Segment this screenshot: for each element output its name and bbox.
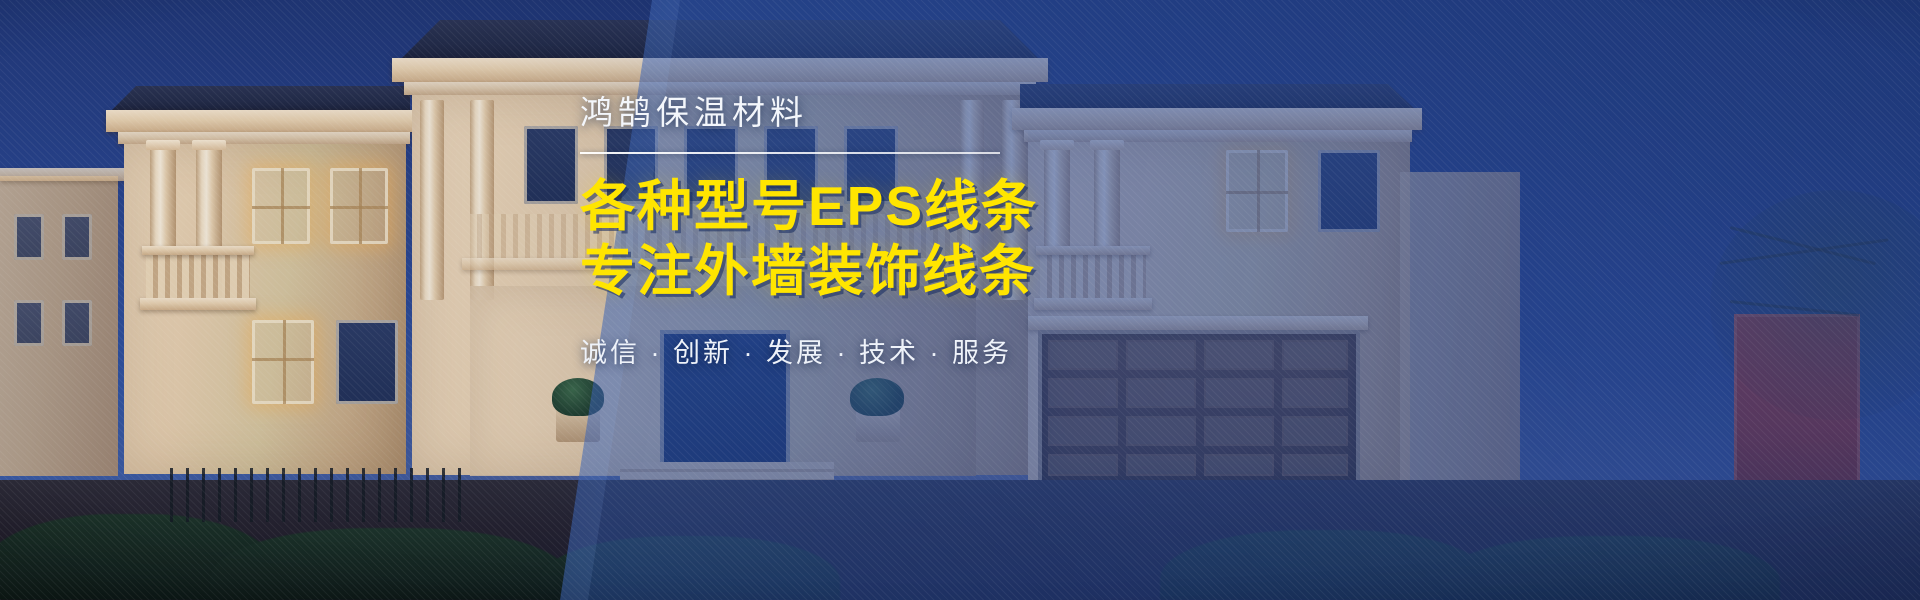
window-mullion (330, 168, 388, 244)
headline-line-2: 专注外墙装饰线条 (580, 241, 1200, 302)
banner-copy-block: 鸿鹄保温材料 各种型号EPS线条 专注外墙装饰线条 诚信 · 创新 · 发展 ·… (580, 96, 1200, 370)
villa-window-lit (252, 168, 310, 244)
headline-line-1: 各种型号EPS线条 (580, 176, 1200, 237)
villa-column-capital (146, 140, 180, 150)
villa-cornice-left (106, 110, 418, 132)
villa-balcony-slab (140, 298, 256, 310)
company-name: 鸿鹄保温材料 (580, 96, 1200, 129)
distant-building-cornice (0, 168, 124, 181)
divider-rule (580, 152, 1000, 154)
villa-window-dark (336, 320, 398, 404)
distant-window (62, 214, 92, 260)
villa-column-capital (192, 140, 226, 150)
villa-balustrade (146, 252, 250, 298)
distant-window (14, 300, 44, 346)
distant-window (62, 300, 92, 346)
tagline: 诚信 · 创新 · 发展 · 技术 · 服务 (580, 331, 1200, 370)
villa-window-dark (524, 126, 578, 204)
villa-window-lit (330, 168, 388, 244)
window-mullion (252, 320, 314, 404)
villa-column (470, 100, 494, 300)
hero-banner: 鸿鹄保温材料 各种型号EPS线条 专注外墙装饰线条 诚信 · 创新 · 发展 ·… (0, 0, 1920, 600)
window-mullion (252, 168, 310, 244)
villa-column (420, 100, 444, 300)
distant-window (14, 214, 44, 260)
villa-balcony-rail (142, 246, 254, 255)
villa-window-lit (252, 320, 314, 404)
villa-roof-left (110, 86, 410, 112)
iron-fence (170, 468, 470, 522)
